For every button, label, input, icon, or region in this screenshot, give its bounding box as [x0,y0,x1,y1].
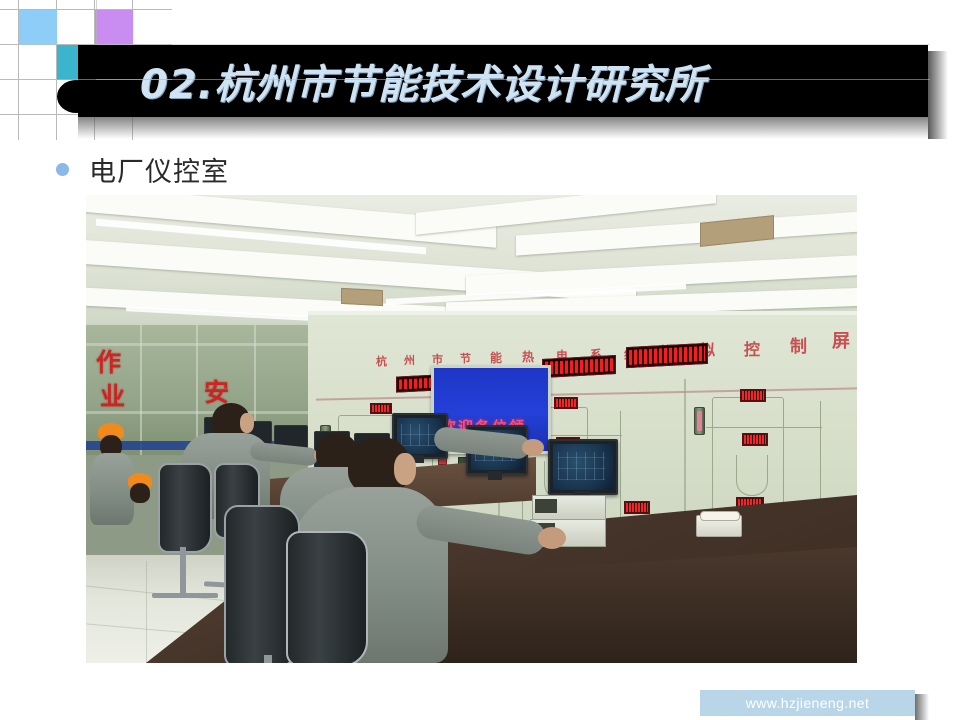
led-readout [624,501,650,514]
mimic-trace-line [620,411,621,535]
office-chair-back [158,463,212,553]
mimic-trace-line [706,427,822,428]
control-room-photo: 作 业 安 杭 州 市 节 能 热 电 系 统 模 拟 控 制 屏 H H [86,195,857,663]
grid-line-overlay [96,0,97,45]
bullet-item-label: 电厂仪控室 [89,150,229,189]
operator-monitor [548,439,618,495]
led-readout [740,389,766,402]
equipment-faceplate [535,499,557,513]
wall-sign-char: 作 [96,343,121,379]
decorative-square-purple [95,10,133,45]
bullet-dot-icon [56,163,69,176]
led-readout [554,397,578,409]
monitor-screen [553,444,613,490]
footer-bar-shadow [915,694,929,720]
slide-title-bar: 02.杭州市节能技术设计研究所 [78,45,928,117]
glass-mullion [140,325,142,455]
operator-face [240,413,254,433]
title-bar-side-shadow [928,51,948,139]
led-banner [626,343,708,368]
operator-face [394,453,416,485]
bullet-item: 电厂仪控室 [56,150,229,189]
led-banner [542,355,616,378]
mimic-coil [736,455,768,496]
office-chair-back [286,531,368,663]
chair-post [180,547,186,597]
panel-switch[interactable] [694,407,705,435]
title-bar-background: 02.杭州市节能技术设计研究所 [78,45,928,117]
wall-sign-char: 业 [100,377,125,413]
footer-url-bar: www.hzjieneng.net [700,690,915,716]
operator-hand [538,527,566,549]
page-title: 02.杭州市节能技术设计研究所 [78,52,706,110]
decorative-square-blue [19,10,57,45]
chair-base [152,593,218,598]
ceiling-vent [341,288,383,306]
chair-post [264,655,272,663]
led-readout [370,403,392,414]
operator-hand [522,439,544,456]
footer-url-text: www.hzjieneng.net [746,695,870,711]
title-bar-drop-shadow [78,117,928,139]
title-hairline-top [96,44,930,45]
monitor-stand [488,471,502,480]
floor-seam [146,561,147,663]
worker-torso [90,453,134,525]
rack-equipment [532,495,606,521]
title-hairline-mid [96,79,930,80]
desk-telephone [696,515,742,537]
worker-head [130,483,150,503]
led-readout [742,433,768,446]
